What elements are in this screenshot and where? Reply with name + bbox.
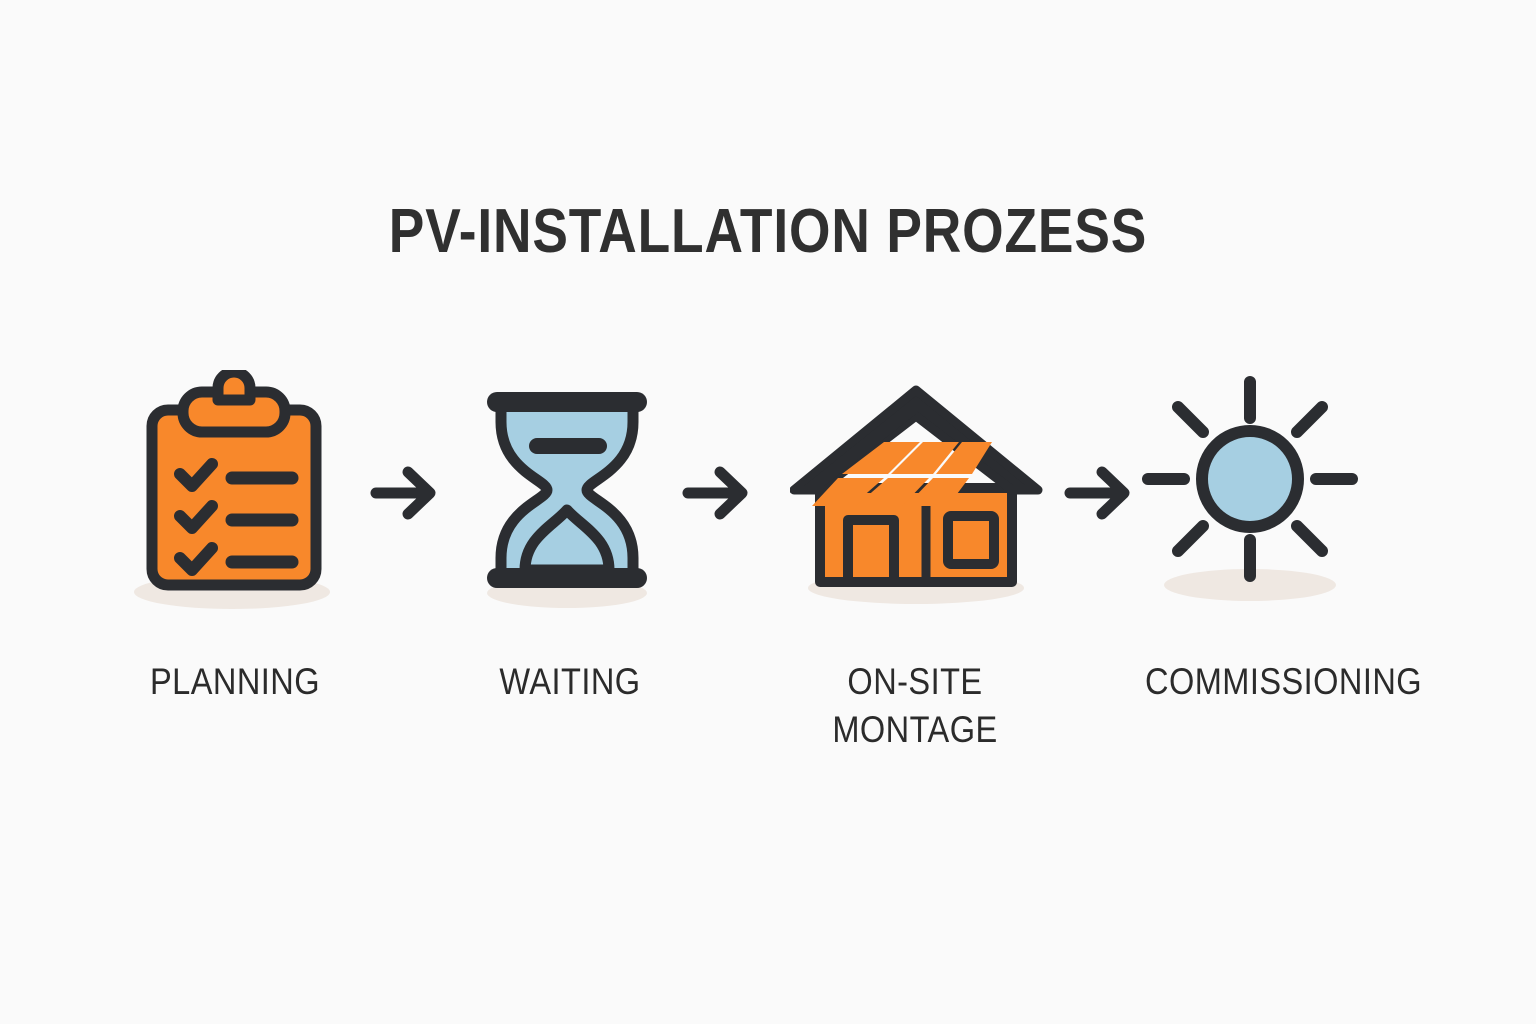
step-waiting: WAITING (445, 370, 695, 770)
step-label-commissioning: COMMISSIONING (1145, 658, 1365, 706)
step-on-site-montage: ON-SITE MONTAGE (790, 370, 1040, 770)
step-label-waiting: WAITING (460, 658, 680, 706)
step-label-line1: WAITING (499, 661, 640, 702)
step-label-line1: PLANNING (150, 661, 320, 702)
step-label-on-site-montage: ON-SITE MONTAGE (805, 658, 1025, 754)
sun-icon (1130, 370, 1380, 610)
step-label-line1: COMMISSIONING (1145, 661, 1422, 702)
arrow-right-icon (1062, 462, 1142, 524)
arrow-right-icon (368, 462, 448, 524)
step-label-planning: PLANNING (125, 658, 345, 706)
infographic-canvas: PV-INSTALLATION PROZESS (0, 0, 1536, 1024)
house-with-solar-panels-icon (790, 370, 1040, 610)
step-planning: PLANNING (110, 370, 360, 770)
arrow-right-icon (680, 462, 760, 524)
hourglass-icon (445, 370, 695, 610)
step-label-line1: ON-SITE (847, 661, 982, 702)
process-steps: PLANNING (0, 0, 1536, 1024)
clipboard-checklist-icon (110, 370, 360, 610)
step-commissioning: COMMISSIONING (1130, 370, 1380, 770)
step-label-line2: MONTAGE (805, 706, 1025, 754)
